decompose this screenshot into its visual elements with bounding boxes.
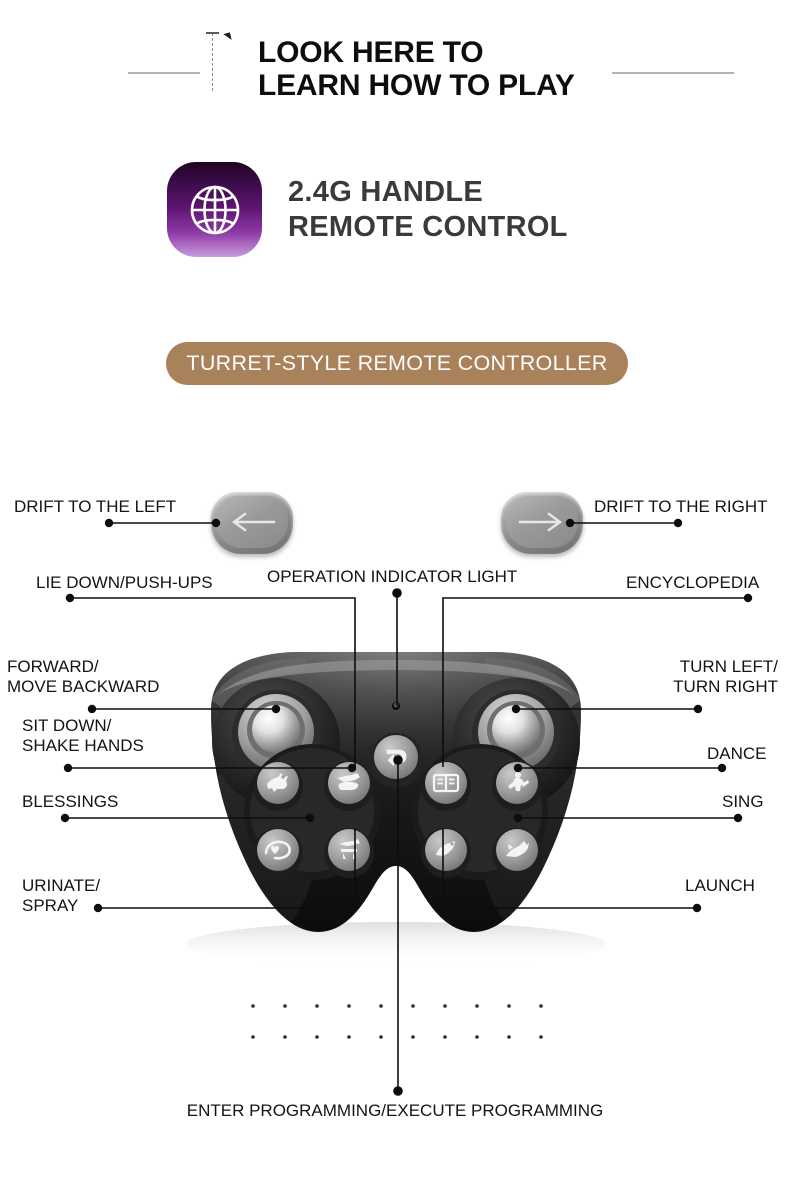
callout-turn-line1: TURN LEFT/ xyxy=(622,657,778,677)
callout-blessings: BLESSINGS xyxy=(22,792,118,812)
surface-dot-pattern xyxy=(251,1004,543,1039)
callout-dance: DANCE xyxy=(707,744,767,764)
callout-operation-indicator-light: OPERATION INDICATOR LIGHT xyxy=(267,567,517,587)
callout-sit-line2: SHAKE HANDS xyxy=(22,736,144,756)
callout-drift-to-the-right: DRIFT TO THE RIGHT xyxy=(594,497,767,517)
callout-urinate-line1: URINATE/ xyxy=(22,876,100,896)
callout-turn-left-turn-right: TURN LEFT/ TURN RIGHT xyxy=(622,657,778,697)
callout-lie-down-push-ups: LIE DOWN/PUSH-UPS xyxy=(36,573,213,593)
callout-drift-to-the-left: DRIFT TO THE LEFT xyxy=(14,497,176,517)
callout-sit-down-shake-hands: SIT DOWN/ SHAKE HANDS xyxy=(22,716,144,756)
callout-forward-move-backward: FORWARD/ MOVE BACKWARD xyxy=(7,657,159,697)
callout-forward-line2: MOVE BACKWARD xyxy=(7,677,159,697)
callout-turn-line2: TURN RIGHT xyxy=(622,677,778,697)
callout-enter-execute-programming: ENTER PROGRAMMING/EXECUTE PROGRAMMING xyxy=(0,1101,790,1121)
callout-launch: LAUNCH xyxy=(685,876,755,896)
leader-endpoint-dots xyxy=(61,519,752,1096)
callout-sit-line1: SIT DOWN/ xyxy=(22,716,144,736)
callout-urinate-line2: SPRAY xyxy=(22,896,100,916)
callout-urinate-spray: URINATE/ SPRAY xyxy=(22,876,100,916)
product-infographic-page: LOOK HERE TO LEARN HOW TO PLAY 2.4G HAND… xyxy=(0,0,790,1181)
callout-encyclopedia: ENCYCLOPEDIA xyxy=(626,573,759,593)
callout-forward-line1: FORWARD/ xyxy=(7,657,159,677)
callout-sing: SING xyxy=(722,792,764,812)
